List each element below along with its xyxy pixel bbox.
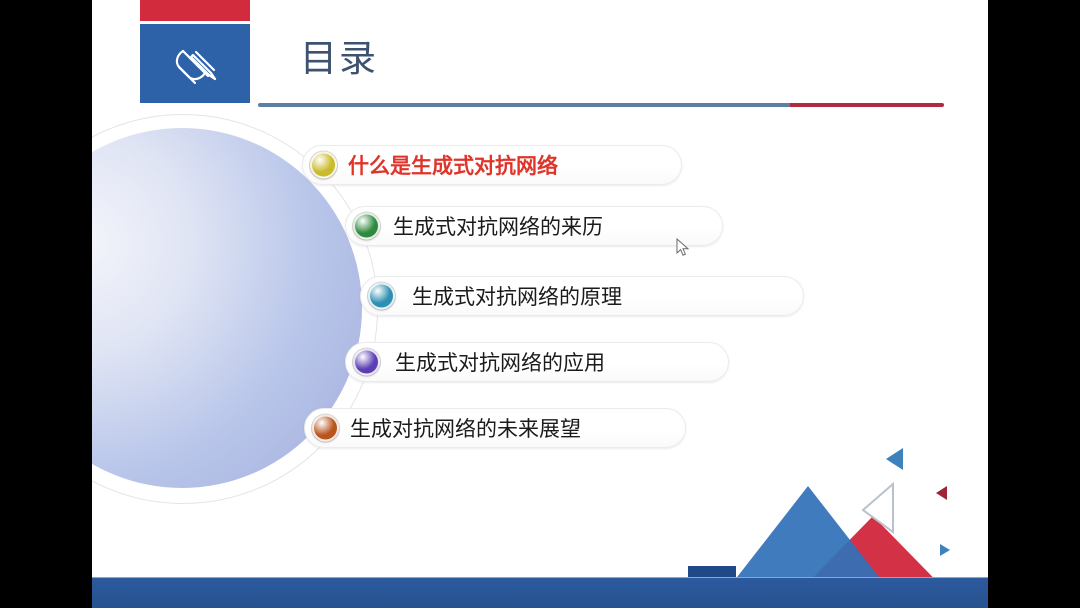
bullet-orange-icon [312, 415, 339, 442]
agenda-item[interactable]: 生成式对抗网络的来历 [345, 206, 723, 246]
agenda-item[interactable]: 生成对抗网络的未来展望 [304, 408, 686, 448]
bullet-yellow-icon [310, 152, 337, 179]
agenda-item-label: 生成对抗网络的未来展望 [350, 413, 581, 443]
agenda-item-label: 生成式对抗网络的应用 [395, 347, 605, 377]
agenda-item[interactable]: 生成式对抗网络的原理 [360, 276, 804, 316]
agenda-list: 什么是生成式对抗网络生成式对抗网络的来历生成式对抗网络的原理生成式对抗网络的应用… [92, 0, 988, 608]
bullet-teal-icon [368, 283, 395, 310]
letterbox-bar-left [0, 0, 92, 608]
letterbox-bar-right [988, 0, 1080, 608]
footer-bar [92, 577, 988, 608]
agenda-item-label: 生成式对抗网络的原理 [412, 281, 622, 311]
agenda-item-label: 生成式对抗网络的来历 [393, 211, 603, 241]
bullet-purple-icon [353, 349, 380, 376]
agenda-item[interactable]: 生成式对抗网络的应用 [345, 342, 729, 382]
screenshot-stage: 目录 什么是生成式对抗网络生成式对抗网络的来历生成式对抗网络的原理生成式对抗网络… [0, 0, 1080, 608]
bullet-green-icon [353, 213, 380, 240]
agenda-item[interactable]: 什么是生成式对抗网络 [302, 145, 682, 185]
agenda-item-label: 什么是生成式对抗网络 [348, 150, 558, 180]
presentation-slide: 目录 什么是生成式对抗网络生成式对抗网络的来历生成式对抗网络的原理生成式对抗网络… [92, 0, 988, 608]
